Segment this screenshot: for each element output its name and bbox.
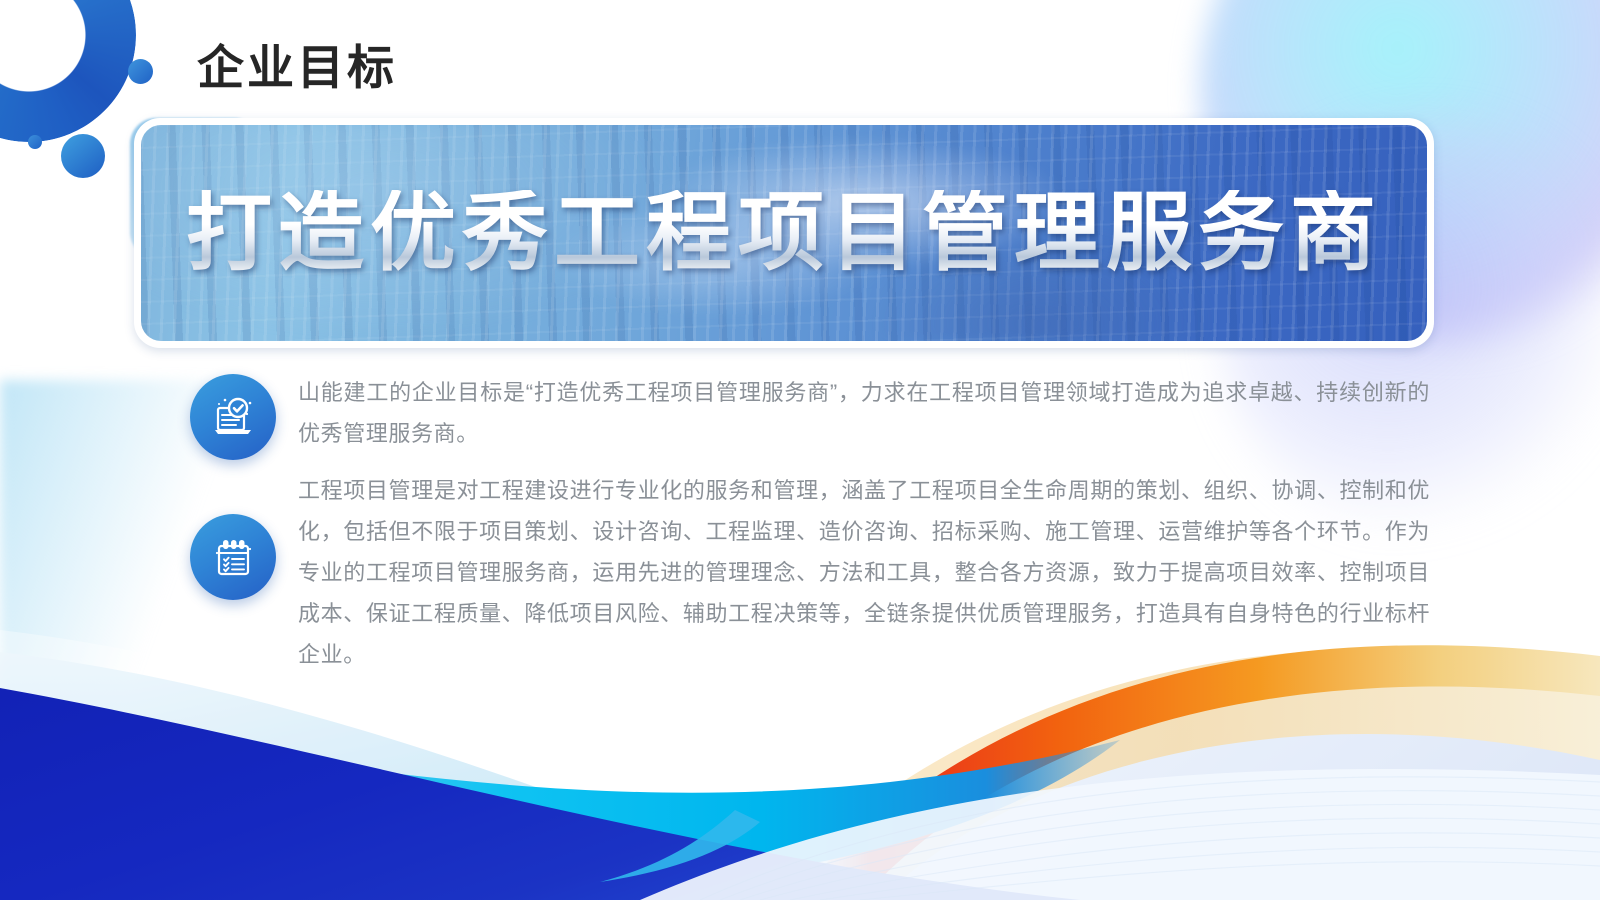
decorative-dot-medium [61, 134, 105, 178]
paragraph: 山能建工的企业目标是“打造优秀工程项目管理服务商”，力求在工程项目管理领域打造成… [298, 372, 1430, 454]
document-check-icon [190, 374, 276, 460]
bottom-wave-decoration [0, 570, 1600, 900]
paragraph-group: 山能建工的企业目标是“打造优秀工程项目管理服务商”，力求在工程项目管理领域打造成… [298, 372, 1430, 454]
decorative-dot-small-top [128, 59, 153, 84]
hero-slogan: 打造优秀工程项目管理服务商 [141, 190, 1427, 276]
hero-banner-image: 打造优秀工程项目管理服务商 [141, 125, 1427, 341]
decorative-dot-tiny [28, 135, 42, 149]
slide-canvas: 企业目标 打造优秀工程项目管理服务商 [0, 0, 1600, 900]
content-block: 山能建工的企业目标是“打造优秀工程项目管理服务商”，力求在工程项目管理领域打造成… [190, 372, 1430, 460]
page-title: 企业目标 [197, 44, 397, 91]
decorative-ring [0, 0, 136, 142]
hero-banner: 打造优秀工程项目管理服务商 [134, 118, 1434, 348]
